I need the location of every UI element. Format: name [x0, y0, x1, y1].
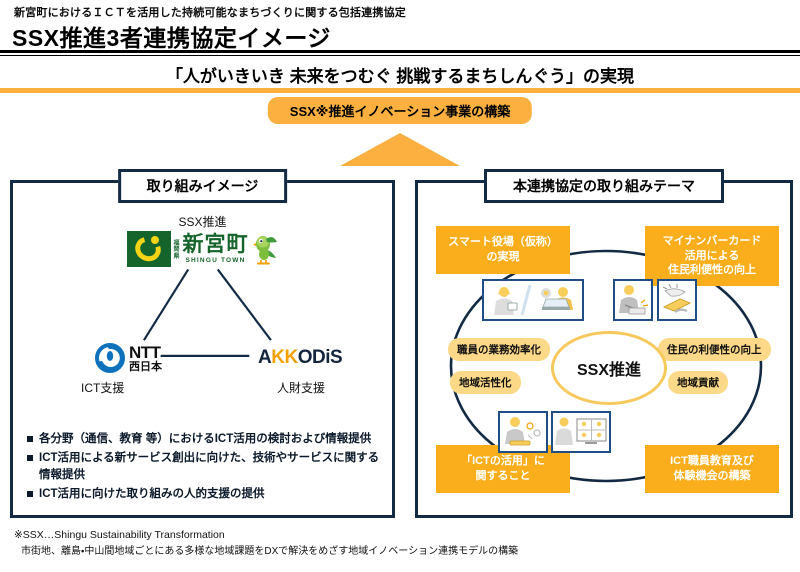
ssx-promotion-label: SSX推進 [13, 213, 392, 230]
footnote: ※SSX…Shingu Sustainability Transformatio… [14, 528, 714, 559]
akkodis-logo-icon: AKKODiS [258, 347, 342, 369]
bird-mascot-icon [253, 232, 279, 266]
slide-kicker: 新宮町におけるＩＣＴを活用した持続可能なまちづくりに関する包括連携協定 [14, 4, 406, 20]
ntt-name-bottom: 西日本 [129, 362, 162, 373]
logo-ring-shape [130, 232, 164, 265]
core-ssx-ellipse: SSX推進 [551, 331, 667, 405]
business-pill: SSX※推進イノベーション事業の構築 [268, 97, 532, 124]
footnote-line-2: 市街地、離島・中山間地域ごとにある多様な地域課題をDXで解決をめざす地域イノベー… [14, 544, 714, 559]
list-item: 各分野（通信、教育 等）におけるICT活用の検討および情報提供 [27, 431, 385, 447]
akkodis-part-b: ODiS [298, 347, 342, 368]
town-name-romaji: SHINGU TOWN [185, 257, 245, 264]
ntt-name-top: NTT [129, 344, 162, 361]
illustration-tablet-and-laptop-icon [482, 279, 584, 321]
themes-panel: 本連携協定の取り組みテーマ スマート役場（仮称） の実現 マイナンバーカード 活… [415, 180, 793, 518]
town-name: 新宮町 [183, 234, 249, 255]
theme-box-staff-education: ICT職員教育及び 体験機会の構築 [645, 445, 779, 493]
shingu-town-logo-icon [126, 231, 170, 267]
ntt-west-logo-icon [95, 343, 125, 373]
prefecture-char-3: 県 [173, 254, 179, 260]
akkodis-part-kk: KK [271, 347, 297, 368]
illustration-desk-work-icon [498, 411, 548, 453]
ntt-west-wordmark: NTT 西日本 [129, 344, 162, 373]
list-item: ICT活用による新サービス創出に向けた、技術やサービスに関する情報提供 [27, 450, 385, 483]
illustration-video-meeting-icon [551, 411, 611, 453]
outcome-pill-staff-efficiency: 職員の業務効率化 [448, 338, 550, 361]
theme-box-smart-office: スマート役場（仮称） の実現 [436, 226, 570, 274]
title-rule-thick [0, 50, 800, 53]
approach-panel: 取り組みイメージ SSX推進 福 岡 県 新宮町 SHINGU TOWN [10, 180, 395, 518]
slide-root: 新宮町におけるＩＣＴを活用した持続可能なまちづくりに関する包括連携協定 SSX推… [0, 0, 800, 572]
outcome-pill-regional-vitalization: 地域活性化 [450, 371, 521, 394]
shingu-town-logo-group: 福 岡 県 新宮町 SHINGU TOWN [126, 231, 278, 267]
ntt-support-caption: ICT支援 [81, 379, 124, 396]
logo-dot-shape [150, 236, 158, 244]
vision-underline-bar [0, 88, 800, 93]
up-arrow-icon [340, 133, 460, 166]
prefecture-label: 福 岡 県 [173, 241, 179, 260]
illustration-card-reader-icon [657, 279, 697, 321]
outcome-pill-resident-convenience: 住民の利便性の向上 [658, 338, 771, 361]
akkodis-support-caption: 人財支援 [277, 379, 325, 396]
vision-statement: 「人がいきいき 未来をつむぐ 挑戦するまちしんぐう」の実現 [0, 62, 800, 87]
illustration-person-keyboard-icon [613, 279, 653, 321]
themes-panel-heading: 本連携協定の取り組みテーマ [484, 169, 724, 203]
page-title: SSX推進3者連携協定イメージ [12, 19, 331, 53]
outcome-pill-regional-contribution: 地域貢献 [668, 371, 728, 394]
commitment-list: 各分野（通信、教育 等）におけるICT活用の検討および情報提供 ICT活用による… [27, 431, 385, 505]
theme-box-mynumber-card: マイナンバーカード 活用による 住民利便性の向上 [645, 226, 779, 286]
list-item: ICT活用に向けた取り組みの人的支援の提供 [27, 486, 385, 502]
approach-panel-heading: 取り組みイメージ [118, 169, 288, 203]
ntt-west-logo-group: NTT 西日本 [95, 343, 162, 373]
title-rule-thin [0, 55, 800, 56]
akkodis-part-a: A [258, 347, 271, 368]
footnote-line-1: ※SSX…Shingu Sustainability Transformatio… [14, 528, 714, 544]
town-name-group: 新宮町 SHINGU TOWN [183, 234, 249, 264]
